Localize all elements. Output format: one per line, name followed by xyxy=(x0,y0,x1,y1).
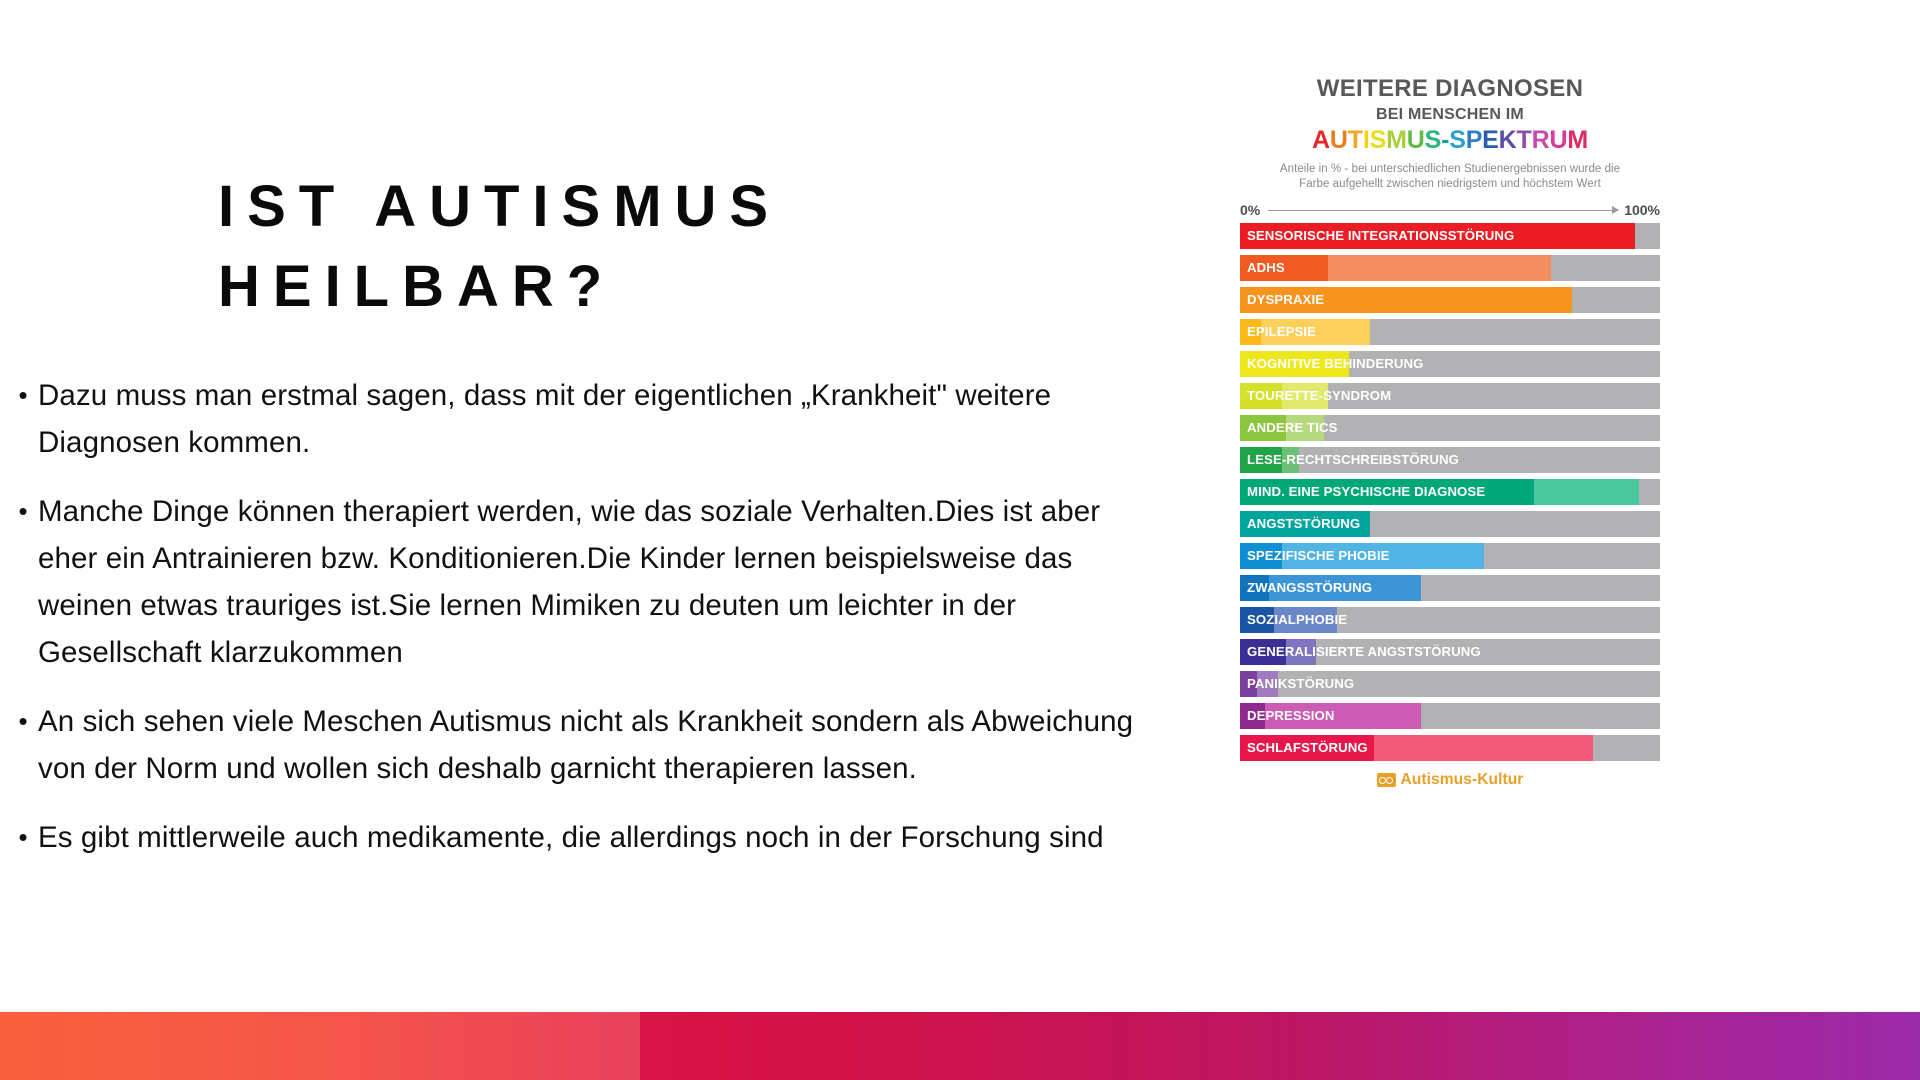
slide-left-column: IST AUTISMUS HEILBAR? • Dazu muss man er… xyxy=(0,0,1180,1010)
bar-label: LESE-RECHTSCHREIBSTÖRUNG xyxy=(1247,447,1459,473)
infographic-note-line-1: Anteile in % - bei unterschiedlichen Stu… xyxy=(1240,162,1660,177)
list-item: • An sich sehen viele Meschen Autismus n… xyxy=(8,698,1138,792)
rainbow-letter-14: R xyxy=(1532,126,1550,154)
rainbow-letter-1: U xyxy=(1330,126,1348,154)
rainbow-letter-3: I xyxy=(1363,126,1370,154)
infographic-panel: WEITERE DIAGNOSEN BEI MENSCHEN IM AUTISM… xyxy=(1240,76,1660,789)
bar-label: ANGSTSTÖRUNG xyxy=(1247,511,1360,537)
bullet-text: Dazu muss man erstmal sagen, dass mit de… xyxy=(38,372,1138,466)
bar-row: ANDERE TICS xyxy=(1240,415,1660,441)
bar-row: DEPRESSION xyxy=(1240,703,1660,729)
rainbow-letter-6: U xyxy=(1407,126,1425,154)
infographic-subtitle: BEI MENSCHEN IM xyxy=(1240,106,1660,124)
infographic-rainbow-title: AUTISMUS-SPEKTRUM xyxy=(1240,126,1660,155)
axis-max-label: 100% xyxy=(1624,202,1660,218)
bullet-list: • Dazu muss man erstmal sagen, dass mit … xyxy=(8,372,1138,883)
axis-scale: 0% 100% xyxy=(1240,201,1660,219)
bar-label: SOZIALPHOBIE xyxy=(1247,607,1347,633)
bullet-text: An sich sehen viele Meschen Autismus nic… xyxy=(38,698,1138,792)
rainbow-letter-11: E xyxy=(1482,126,1498,154)
page-title: IST AUTISMUS HEILBAR? xyxy=(218,167,978,327)
bullet-text: Es gibt mittlerweile auch medikamente, d… xyxy=(38,814,1138,861)
bar-label: ANDERE TICS xyxy=(1247,415,1338,441)
source-credit: Autismus-Kultur xyxy=(1240,771,1660,789)
bar-row: ANGSTSTÖRUNG xyxy=(1240,511,1660,537)
rainbow-letter-0: A xyxy=(1312,126,1330,154)
bar-row: PANIKSTÖRUNG xyxy=(1240,671,1660,697)
bar-chart: SENSORISCHE INTEGRATIONSSTÖRUNGADHSDYSPR… xyxy=(1240,223,1660,761)
rainbow-letter-16: M xyxy=(1567,126,1588,154)
rainbow-letter-4: S xyxy=(1370,126,1386,154)
rainbow-letter-9: S xyxy=(1449,126,1465,154)
rainbow-letter-2: T xyxy=(1348,126,1363,154)
bar-row: MIND. EINE PSYCHISCHE DIAGNOSE xyxy=(1240,479,1660,505)
infographic-title: WEITERE DIAGNOSEN xyxy=(1240,76,1660,102)
axis-line xyxy=(1268,210,1618,211)
rainbow-letter-5: M xyxy=(1386,126,1407,154)
bar-label: DYSPRAXIE xyxy=(1247,287,1324,313)
infographic-note-line-2: Farbe aufgehellt zwischen niedrigstem un… xyxy=(1240,177,1660,192)
page-title-line-1: IST AUTISMUS xyxy=(218,167,978,247)
bar-label: EPILEPSIE xyxy=(1247,319,1316,345)
rainbow-letter-10: P xyxy=(1466,126,1482,154)
band-segment-right xyxy=(640,1012,1920,1080)
bar-row: GENERALISIERTE ANGSTSTÖRUNG xyxy=(1240,639,1660,665)
band-segment-left xyxy=(0,1012,640,1080)
decorative-bottom-band xyxy=(0,1012,1920,1080)
bar-row: SPEZIFISCHE PHOBIE xyxy=(1240,543,1660,569)
bar-row: LESE-RECHTSCHREIBSTÖRUNG xyxy=(1240,447,1660,473)
bar-row: SOZIALPHOBIE xyxy=(1240,607,1660,633)
bar-row: SCHLAFSTÖRUNG xyxy=(1240,735,1660,761)
source-credit-label: Autismus-Kultur xyxy=(1401,771,1524,789)
bar-label: ADHS xyxy=(1247,255,1285,281)
bullet-point-icon: • xyxy=(8,488,38,535)
list-item: • Manche Dinge können therapiert werden,… xyxy=(8,488,1138,676)
list-item: • Dazu muss man erstmal sagen, dass mit … xyxy=(8,372,1138,466)
slide-root: IST AUTISMUS HEILBAR? • Dazu muss man er… xyxy=(0,0,1920,1080)
bullet-point-icon: • xyxy=(8,372,38,419)
bar-label: SENSORISCHE INTEGRATIONSSTÖRUNG xyxy=(1247,223,1514,249)
bullet-point-icon: • xyxy=(8,698,38,745)
rainbow-letter-8: - xyxy=(1441,126,1449,154)
bar-row: SENSORISCHE INTEGRATIONSSTÖRUNG xyxy=(1240,223,1660,249)
bullet-text: Manche Dinge können therapiert werden, w… xyxy=(38,488,1138,676)
bar-row: EPILEPSIE xyxy=(1240,319,1660,345)
bar-label: ZWANGSSTÖRUNG xyxy=(1247,575,1372,601)
bar-row: TOURETTE-SYNDROM xyxy=(1240,383,1660,409)
bar-row: DYSPRAXIE xyxy=(1240,287,1660,313)
bar-label: TOURETTE-SYNDROM xyxy=(1247,383,1391,409)
bar-label: SCHLAFSTÖRUNG xyxy=(1247,735,1368,761)
rainbow-letter-7: S xyxy=(1425,126,1441,154)
bar-row: ZWANGSSTÖRUNG xyxy=(1240,575,1660,601)
infographic-note: Anteile in % - bei unterschiedlichen Stu… xyxy=(1240,162,1660,192)
rainbow-letter-15: U xyxy=(1549,126,1567,154)
arrow-right-icon xyxy=(1612,206,1619,214)
rainbow-letter-12: K xyxy=(1499,126,1517,154)
bar-row: ADHS xyxy=(1240,255,1660,281)
bar-label: PANIKSTÖRUNG xyxy=(1247,671,1354,697)
bar-label: KOGNITIVE BEHINDERUNG xyxy=(1247,351,1423,377)
page-title-line-2: HEILBAR? xyxy=(218,247,978,327)
bar-label: SPEZIFISCHE PHOBIE xyxy=(1247,543,1390,569)
list-item: • Es gibt mittlerweile auch medikamente,… xyxy=(8,814,1138,861)
bar-label: GENERALISIERTE ANGSTSTÖRUNG xyxy=(1247,639,1481,665)
autismus-kultur-logo-icon xyxy=(1377,773,1396,787)
bar-label: MIND. EINE PSYCHISCHE DIAGNOSE xyxy=(1247,479,1485,505)
bar-row: KOGNITIVE BEHINDERUNG xyxy=(1240,351,1660,377)
bar-label: DEPRESSION xyxy=(1247,703,1334,729)
bullet-point-icon: • xyxy=(8,814,38,861)
rainbow-letter-13: T xyxy=(1517,126,1532,154)
axis-min-label: 0% xyxy=(1240,202,1260,218)
